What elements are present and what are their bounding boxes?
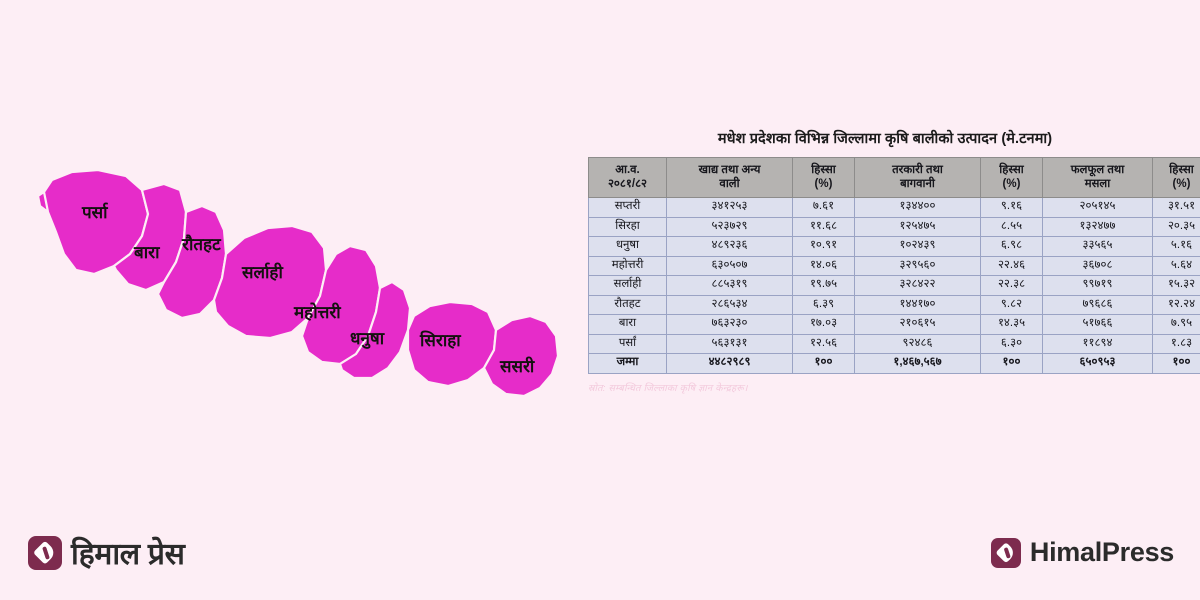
cell-district: सर्लाही [589,276,667,296]
table-row: सप्तरी ३४१२५३ ७.६१ १३४४०० ९.१६ २०५१४५ ३१… [589,198,1200,218]
cell-fruit-share: ५.१६ [1153,237,1200,257]
cell-fruit-share: १५.३२ [1153,276,1200,296]
cell-food-crops: ४८९२३६ [667,237,793,257]
cell-total-food-crops: ४४८२९८९ [667,354,793,374]
cell-vegetables: १४४१७० [855,295,981,315]
table-row: धनुषा ४८९२३६ १०.९१ १०२४३९ ६.९८ ३३५६५ ५.१… [589,237,1200,257]
table-body: सप्तरी ३४१२५३ ७.६१ १३४४०० ९.१६ २०५१४५ ३१… [589,198,1200,374]
himalpress-logo-nepali[interactable]: हिमाल प्रेस [28,532,185,573]
cell-fruits-spices: ११८९४ [1043,334,1153,354]
col-header-vegetable-share-line1: हिस्सा [983,164,1040,178]
cell-total-food-share: १०० [793,354,855,374]
cell-district: सिरहा [589,217,667,237]
cell-food-crops: ५६३१३१ [667,334,793,354]
table-row: सिरहा ५२३७२९ ११.६८ १२५४७५ ८.५५ १३२४७७ २०… [589,217,1200,237]
cell-total-fruit-share: १०० [1153,354,1200,374]
table-row: बारा ७६३२३० १७.०३ २१०६१५ १४.३५ ५१७६६ ७.९… [589,315,1200,335]
himalpress-logo-text-nepali: हिमाल प्रेस [71,532,185,573]
col-header-fiscal-year: आ.व. २०८१/८२ [589,158,667,198]
col-header-food-share: हिस्सा (%) [793,158,855,198]
cell-vegetable-share: ९.१६ [981,198,1043,218]
himalpress-mark-icon [28,536,62,570]
col-header-vegetable-share-line2: (%) [983,178,1040,192]
cell-fruits-spices: ५१७६६ [1043,315,1153,335]
cell-total-fruits-spices: ६५०९५३ [1043,354,1153,374]
cell-fruits-spices: ९९७१९ [1043,276,1153,296]
district-label-siraha: सिराहा [419,330,461,350]
cell-food-share: ६.३९ [793,295,855,315]
cell-fruit-share: १२.२४ [1153,295,1200,315]
cell-vegetables: १०२४३९ [855,237,981,257]
cell-vegetables: १२५४७५ [855,217,981,237]
col-header-vegetable-share: हिस्सा (%) [981,158,1043,198]
cell-vegetables: ९२४८६ [855,334,981,354]
cell-vegetables: ३२८४२२ [855,276,981,296]
cell-food-share: १२.५६ [793,334,855,354]
cell-food-share: १९.७५ [793,276,855,296]
cell-food-crops: ५२३७२९ [667,217,793,237]
district-label-rautahat: रौतहट [181,234,222,254]
cell-fruit-share: ७.९५ [1153,315,1200,335]
col-header-food-crops: खाद्य तथा अन्य वाली [667,158,793,198]
district-label-sarlahi: सर्लाही [241,262,283,282]
cell-total-vegetable-share: १०० [981,354,1043,374]
cell-fruits-spices: १३२४७७ [1043,217,1153,237]
table-row: सर्लाही ८८५३१९ १९.७५ ३२८४२२ २२.३८ ९९७१९ … [589,276,1200,296]
himalpress-logo-text-english: HimalPress [1030,537,1174,568]
cell-vegetable-share: २२.४६ [981,256,1043,276]
madhesh-province-map: पर्सा बारा रौतहट सर्लाही महोत्तरी धनुषा … [30,150,600,410]
district-label-mahottari: महोत्तरी [293,302,341,322]
cell-vegetable-share: २२.३८ [981,276,1043,296]
himalpress-mark-icon [991,538,1021,568]
cell-food-share: ७.६१ [793,198,855,218]
col-header-vegetables-line2: बागवानी [857,178,978,192]
table-row: महोत्तरी ६३०५०७ १४.०६ ३२९५६० २२.४६ ३६७०८… [589,256,1200,276]
cell-food-crops: ३४१२५३ [667,198,793,218]
cell-fruits-spices: ३६७०८ [1043,256,1153,276]
table-panel: मधेश प्रदेशका विभिन्न जिल्लामा कृषि बाली… [588,128,1182,394]
col-header-fruit-share-line2: (%) [1155,178,1200,192]
cell-fruit-share: ३१.५१ [1153,198,1200,218]
cell-fruits-spices: ३३५६५ [1043,237,1153,257]
col-header-fruits-spices-line2: मसला [1045,178,1150,192]
cell-vegetable-share: ८.५५ [981,217,1043,237]
col-header-fiscal-year-line1: आ.व. [591,164,664,178]
col-header-food-share-line2: (%) [795,178,852,192]
cell-vegetable-share: ९.८२ [981,295,1043,315]
map-svg: पर्सा बारा रौतहट सर्लाही महोत्तरी धनुषा … [30,150,600,410]
col-header-fruit-share-line1: हिस्सा [1155,164,1200,178]
cell-vegetable-share: ६.३० [981,334,1043,354]
col-header-vegetables: तरकारी तथा बागवानी [855,158,981,198]
cell-district: रौतहट [589,295,667,315]
district-shapes [38,170,558,396]
col-header-fruits-spices: फलफूल तथा मसला [1043,158,1153,198]
cell-fruit-share: २०.३५ [1153,217,1200,237]
table-row: रौतहट २८६५३४ ६.३९ १४४१७० ९.८२ ७९६८६ १२.२… [589,295,1200,315]
cell-district: धनुषा [589,237,667,257]
cell-food-crops: ६३०५०७ [667,256,793,276]
cell-food-share: ११.६८ [793,217,855,237]
cell-fruit-share: १.८३ [1153,334,1200,354]
district-label-parsa: पर्सा [81,202,109,222]
cell-food-crops: २८६५३४ [667,295,793,315]
cell-fruits-spices: २०५१४५ [1043,198,1153,218]
himalpress-logo-english[interactable]: HimalPress [991,537,1174,568]
cell-vegetable-share: ६.९८ [981,237,1043,257]
cell-fruit-share: ५.६४ [1153,256,1200,276]
table-header: आ.व. २०८१/८२ खाद्य तथा अन्य वाली हिस्सा … [589,158,1200,198]
agriculture-production-table: आ.व. २०८१/८२ खाद्य तथा अन्य वाली हिस्सा … [588,157,1200,374]
cell-district: महोत्तरी [589,256,667,276]
table-total-row: जम्मा ४४८२९८९ १०० १,४६७,५६७ १०० ६५०९५३ १… [589,354,1200,374]
table-header-row: आ.व. २०८१/८२ खाद्य तथा अन्य वाली हिस्सा … [589,158,1200,198]
source-note: स्रोत: सम्बन्धित जिल्लाका कृषि ज्ञान केन… [588,381,1182,394]
cell-total-label: जम्मा [589,354,667,374]
col-header-vegetables-line1: तरकारी तथा [857,164,978,178]
col-header-fruit-share: हिस्सा (%) [1153,158,1200,198]
cell-food-share: १७.०३ [793,315,855,335]
cell-vegetable-share: १४.३५ [981,315,1043,335]
chart-title: मधेश प्रदेशका विभिन्न जिल्लामा कृषि बाली… [588,128,1182,148]
cell-vegetables: १३४४०० [855,198,981,218]
cell-fruits-spices: ७९६८६ [1043,295,1153,315]
cell-food-share: १०.९१ [793,237,855,257]
cell-district: बारा [589,315,667,335]
col-header-food-share-line1: हिस्सा [795,164,852,178]
col-header-fiscal-year-line2: २०८१/८२ [591,178,664,192]
infographic-root: पर्सा बारा रौतहट सर्लाही महोत्तरी धनुषा … [0,0,1200,600]
table-row: पर्सां ५६३१३१ १२.५६ ९२४८६ ६.३० ११८९४ १.८… [589,334,1200,354]
cell-district: सप्तरी [589,198,667,218]
cell-total-vegetables: १,४६७,५६७ [855,354,981,374]
cell-food-crops: ७६३२३० [667,315,793,335]
district-label-saptari: ससरी [499,356,535,376]
cell-district: पर्सां [589,334,667,354]
cell-vegetables: ३२९५६० [855,256,981,276]
col-header-food-crops-line2: वाली [669,178,790,192]
cell-food-share: १४.०६ [793,256,855,276]
district-label-bara: बारा [133,243,160,262]
district-label-dhanusha: धनुषा [350,329,385,349]
col-header-fruits-spices-line1: फलफूल तथा [1045,164,1150,178]
cell-food-crops: ८८५३१९ [667,276,793,296]
col-header-food-crops-line1: खाद्य तथा अन्य [669,164,790,178]
cell-vegetables: २१०६१५ [855,315,981,335]
